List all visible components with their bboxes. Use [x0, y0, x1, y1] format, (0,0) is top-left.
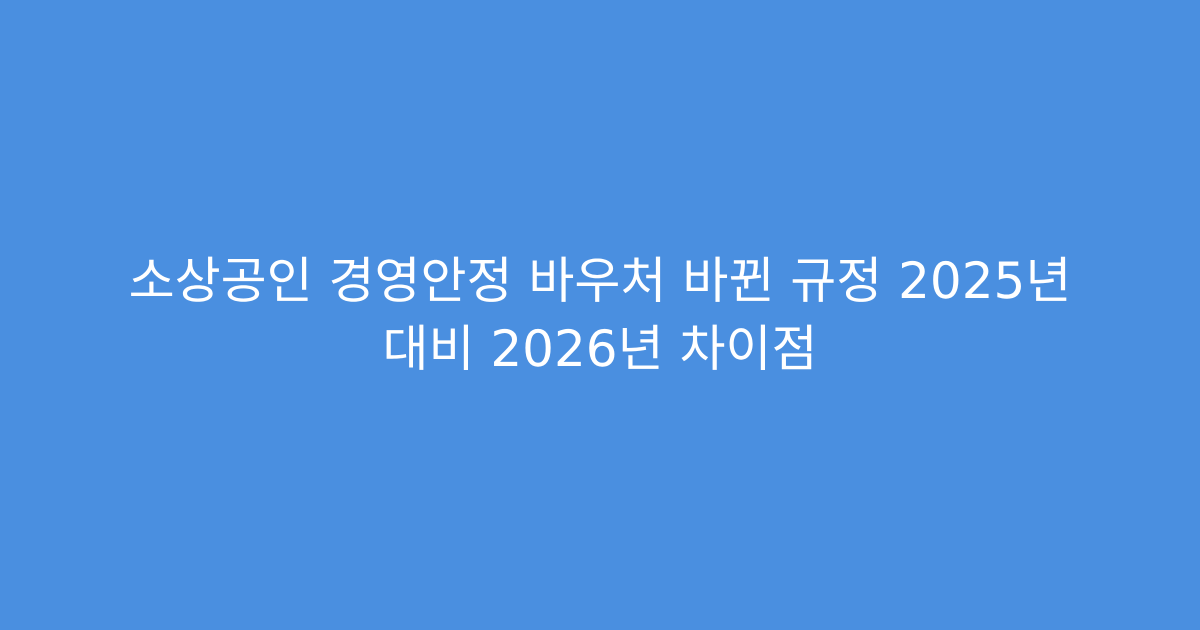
title-block: 소상공인 경영안정 바우처 바뀐 규정 2025년 대비 2026년 차이점	[70, 247, 1130, 383]
page-title: 소상공인 경영안정 바우처 바뀐 규정 2025년 대비 2026년 차이점	[78, 247, 1122, 383]
og-card-canvas: 소상공인 경영안정 바우처 바뀐 규정 2025년 대비 2026년 차이점	[0, 0, 1200, 630]
